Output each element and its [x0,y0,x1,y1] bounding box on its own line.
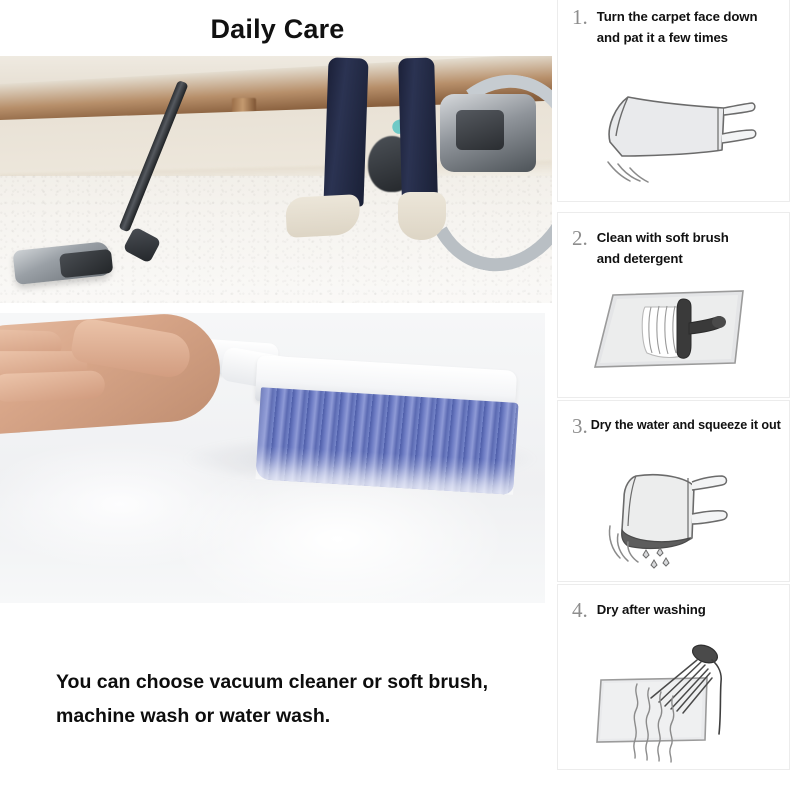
step-panel-4: 4. Dry after washing [557,584,790,770]
step-panel-1: 1. Turn the carpet face down and pat it … [557,0,790,202]
step-1-header: 1. Turn the carpet face down and pat it … [558,0,789,49]
step-2-header: 2. Clean with soft brush and detergent [558,213,789,270]
step-3-number: 3. [572,415,588,437]
step-panel-3: 3. Dry the water and squeeze it out [557,400,790,582]
shower-head-drying-carpet-icon [579,640,769,766]
step-panel-2: 2. Clean with soft brush and detergent [557,212,790,398]
step-1-number: 1. [572,6,588,28]
care-caption-line-1: You can choose vacuum cleaner or soft br… [56,666,526,700]
page-title: Daily Care [0,14,555,45]
carpet-squeezed-water-drops-icon [584,456,764,574]
step-3-illustration [558,455,789,575]
photo-divider [0,303,552,313]
photo-blue-soft-brush [0,313,545,603]
step-2-line-1: Clean with soft brush [597,227,729,248]
person-leg-right [398,58,438,199]
finger [0,370,105,402]
step-1-line-1: Turn the carpet face down [597,6,758,27]
step-4-number: 4. [572,599,588,621]
step-3-header: 3. Dry the water and squeeze it out [558,401,789,437]
vacuum-canister [440,94,536,172]
step-2-text: Clean with soft brush and detergent [597,227,729,270]
step-2-illustration [558,271,789,391]
step-4-text: Dry after washing [597,599,706,620]
step-4-header: 4. Dry after washing [558,585,789,621]
step-2-number: 2. [572,227,588,249]
step-3-text: Dry the water and squeeze it out [591,415,781,435]
step-4-line-1: Dry after washing [597,599,706,620]
carpet-flipped-and-patted-icon [584,80,764,190]
photo-column: You can choose vacuum cleaner or soft br… [0,56,552,800]
photo-vacuum-cleaning-carpet [0,56,552,303]
care-caption-line-2: machine wash or water wash. [56,700,526,734]
care-caption: You can choose vacuum cleaner or soft br… [56,666,526,733]
steps-column: 1. Turn the carpet face down and pat it … [557,0,793,800]
step-3-line-1: Dry the water and squeeze it out [591,415,781,435]
carpet-with-scrub-brush-icon [583,279,765,383]
person-leg-left [323,57,368,206]
step-4-illustration [558,639,789,767]
person-sock-right [398,192,446,240]
step-1-illustration [558,75,789,195]
step-1-text: Turn the carpet face down and pat it a f… [597,6,758,49]
step-1-line-2: and pat it a few times [597,27,758,48]
step-2-line-2: and detergent [597,248,729,269]
brush-bristles [255,387,518,495]
